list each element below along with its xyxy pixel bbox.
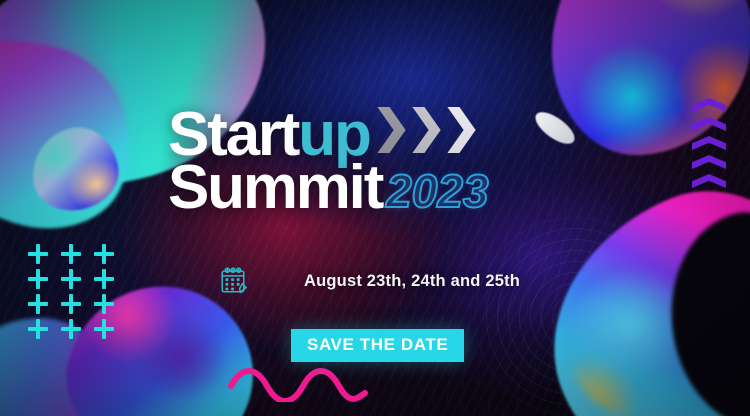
chevron-right-icon — [411, 107, 441, 153]
headline-line-2: Summit 2023 — [168, 159, 489, 216]
event-date-text: August 23th, 24th and 25th — [304, 272, 520, 291]
chevron-up-stack-decoration — [692, 98, 726, 188]
headline-year: 2023 — [386, 170, 488, 212]
wavy-line-icon — [228, 368, 368, 402]
save-the-date-button[interactable]: SAVE THE DATE — [291, 329, 464, 362]
plus-icon — [61, 319, 81, 339]
plus-icon — [94, 319, 114, 339]
chevron-up-icon — [692, 155, 726, 169]
plus-icon — [28, 294, 48, 314]
plus-icon — [61, 244, 81, 264]
plus-icon — [94, 294, 114, 314]
event-date-row: August 23th, 24th and 25th — [218, 266, 520, 296]
triple-chevron-right-icon — [376, 107, 476, 153]
calendar-icon — [218, 266, 248, 296]
plus-icon — [61, 294, 81, 314]
plus-icon — [28, 244, 48, 264]
plus-icon — [28, 269, 48, 289]
chevron-right-icon — [376, 107, 406, 153]
event-poster: Start up Summit 2023 — [0, 0, 750, 416]
chevron-up-icon — [692, 136, 726, 150]
chevron-up-icon — [692, 98, 726, 112]
chevron-up-icon — [692, 174, 726, 188]
headline-word-summit: Summit — [168, 159, 382, 216]
plus-icon — [94, 244, 114, 264]
plus-icon — [28, 319, 48, 339]
chevron-right-icon — [446, 107, 476, 153]
chevron-up-icon — [692, 117, 726, 131]
plus-grid-decoration — [28, 244, 127, 344]
poster-headline: Start up Summit 2023 — [168, 106, 489, 216]
plus-icon — [61, 269, 81, 289]
plus-icon — [94, 269, 114, 289]
